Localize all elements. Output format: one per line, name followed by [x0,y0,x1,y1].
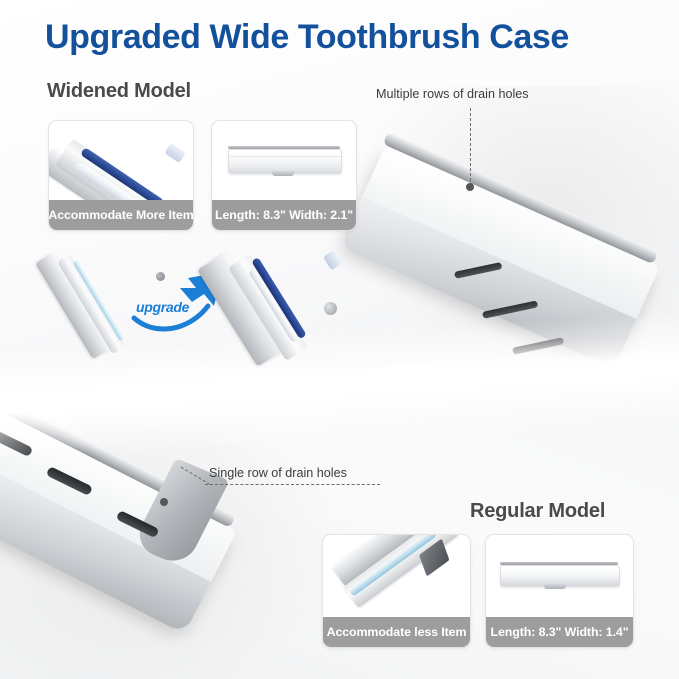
case-latch-tab [544,584,566,589]
wide-case-dental-mirror [324,302,337,315]
annotation-leader-line [470,108,471,186]
annotation-single-drain-holes: Single row of drain holes [209,466,347,480]
card-regular-dimensions[interactable]: Length: 8.3" Width: 1.4" [485,534,634,648]
case-latch-tab [272,171,294,176]
drain-hole-slot [116,510,160,538]
annotation-leader-endpoint [466,183,474,191]
card-photo-open-wide-case [49,121,193,200]
card-widened-dimensions[interactable]: Length: 8.3" Width: 2.1" [211,120,357,231]
comparison-after-wide-case [218,252,358,352]
card-caption: Accommodate More Item [49,200,193,230]
section-heading-regular: Regular Model [470,500,605,523]
annotation-leader-endpoint [160,498,168,506]
card-accommodate-more-item[interactable]: Accommodate More Item [48,120,194,231]
card-photo-closed-wide-case [212,121,356,200]
case-lid-seam [500,562,618,565]
upgrade-label: upgrade [136,299,189,315]
annotation-leader-line [205,484,380,485]
card-photo-open-regular-case [323,535,470,617]
card-caption: Accommodate less Item [323,617,470,647]
page-title: Upgraded Wide Toothbrush Case [45,18,645,57]
card-caption: Length: 8.3" Width: 1.4" [486,617,633,647]
drain-hole-slot [46,466,94,496]
annotation-multiple-drain-holes: Multiple rows of drain holes [376,87,529,101]
card-accommodate-less-item[interactable]: Accommodate less Item [322,534,471,648]
case-lid-seam [228,146,340,149]
toothbrush-head-shape [164,143,186,163]
infographic-canvas: Upgraded Wide Toothbrush Case Widened Mo… [0,0,679,679]
wide-case-toothbrush-head [323,250,343,270]
section-heading-widened: Widened Model [47,80,191,103]
card-caption: Length: 8.3" Width: 2.1" [212,200,356,230]
card-photo-closed-regular-case [486,535,633,617]
